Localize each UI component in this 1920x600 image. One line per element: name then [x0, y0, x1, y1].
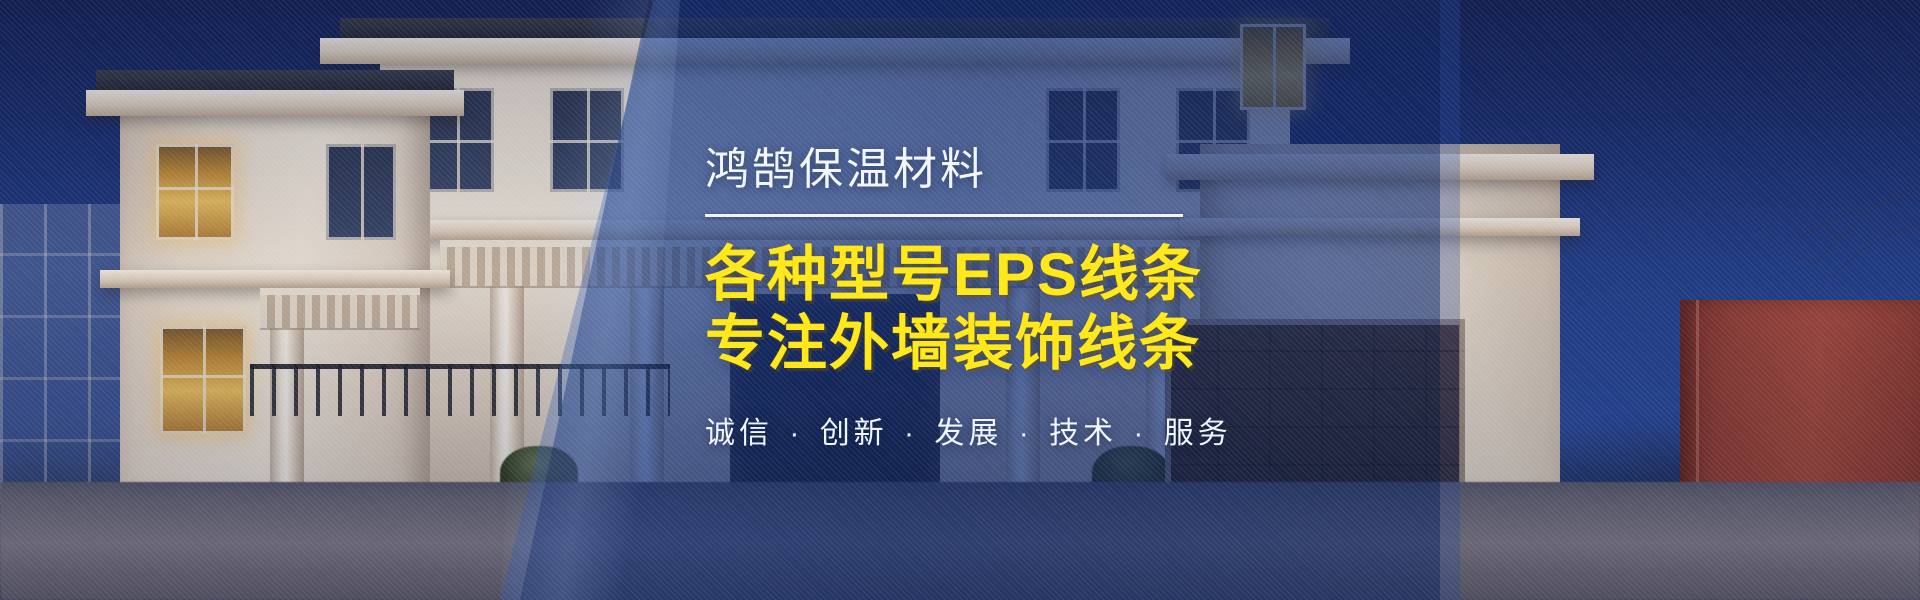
tagline-item-1: 创新	[820, 417, 888, 450]
tagline-item-3: 技术	[1049, 417, 1117, 450]
tagline-item-0: 诚信	[705, 417, 773, 450]
promo-banner: 鸿鹄保温材料 各种型号EPS线条 专注外墙装饰线条 诚信 · 创新 · 发展 ·…	[0, 0, 1920, 600]
tagline-separator-3: ·	[1129, 417, 1151, 450]
tagline-item-4: 服务	[1164, 417, 1232, 450]
tagline-item-2: 发展	[934, 417, 1002, 450]
brand-name: 鸿鹄保温材料	[705, 148, 987, 192]
tagline-separator-2: ·	[1015, 417, 1037, 450]
tagline: 诚信 · 创新 · 发展 · 技术 · 服务	[705, 408, 1232, 452]
banner-copy: 鸿鹄保温材料 各种型号EPS线条 专注外墙装饰线条 诚信 · 创新 · 发展 ·…	[0, 0, 1920, 600]
divider-rule	[705, 214, 1183, 217]
headline: 各种型号EPS线条 专注外墙装饰线条	[705, 241, 1203, 378]
tagline-separator-0: ·	[785, 417, 807, 450]
tagline-separator-1: ·	[900, 417, 922, 450]
headline-line-2: 专注外墙装饰线条	[705, 310, 1203, 378]
headline-line-1: 各种型号EPS线条	[705, 241, 1203, 309]
